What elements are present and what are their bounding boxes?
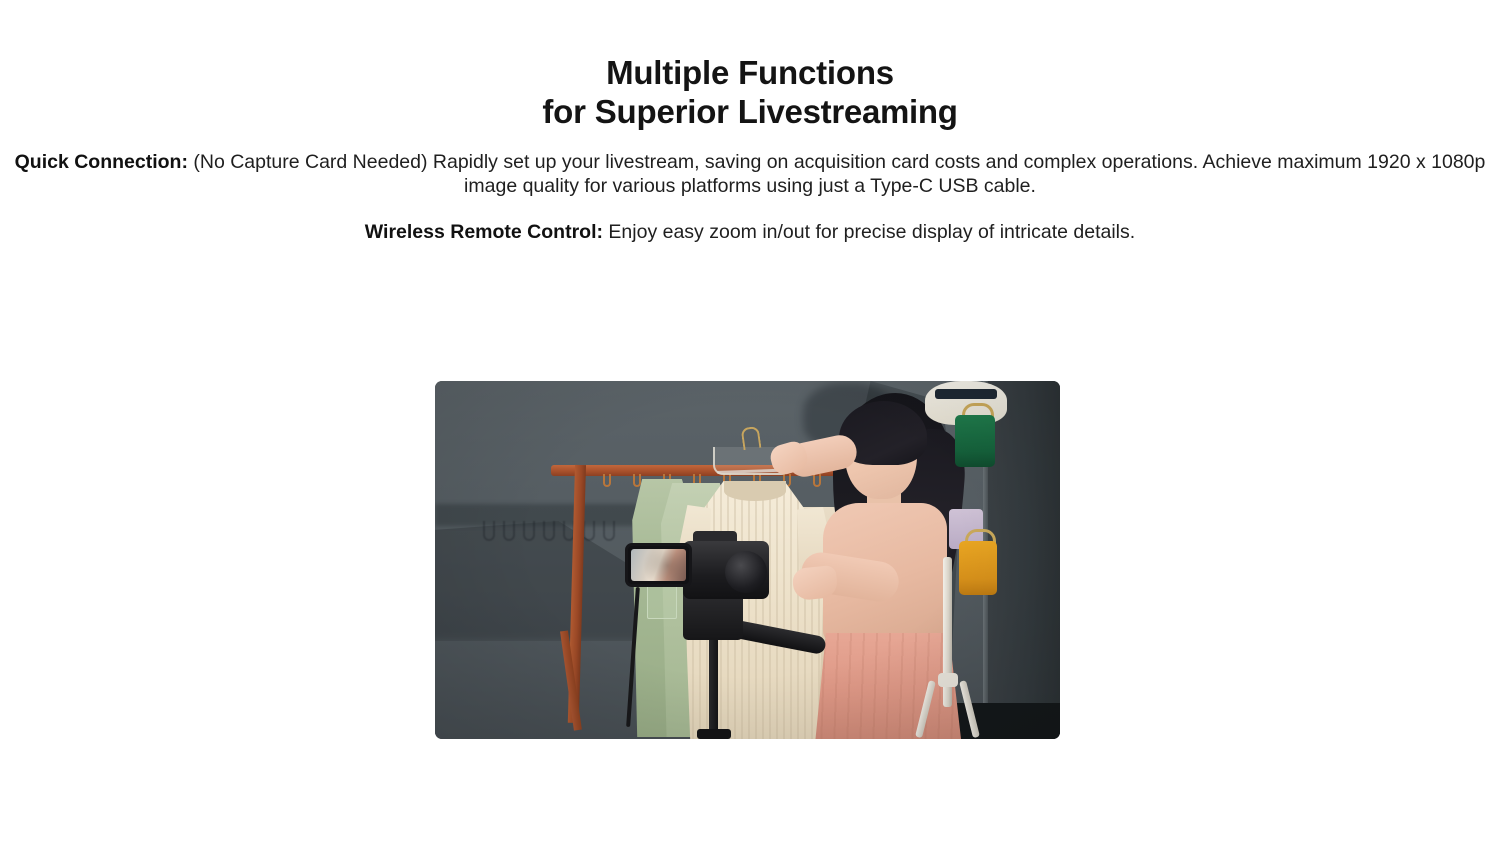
- feature-paragraph-quick-connection: Quick Connection: (No Capture Card Neede…: [0, 151, 1500, 198]
- rack-hook-icon: [633, 474, 641, 487]
- feature-paragraph-wireless-remote: Wireless Remote Control: Enjoy easy zoom…: [0, 221, 1500, 244]
- feature-label-quick-connection: Quick Connection:: [15, 151, 188, 173]
- yellow-handbag: [959, 541, 997, 595]
- page-title-line-2: for Superior Livestreaming: [0, 93, 1500, 132]
- light-stand-knob: [938, 673, 958, 687]
- hanger-hook-icon: [741, 426, 762, 450]
- feature-text-wireless-remote: Enjoy easy zoom in/out for precise displ…: [603, 221, 1135, 243]
- hanger-shadow-icon: [543, 521, 555, 541]
- dress-neckline: [724, 481, 786, 501]
- rack-hook-icon: [813, 474, 821, 487]
- page-title-emphasis: Livestreaming: [738, 93, 958, 130]
- page-root: Multiple Functions for Superior Livestre…: [0, 0, 1500, 844]
- feature-label-wireless-remote: Wireless Remote Control:: [365, 221, 603, 243]
- photo-scene: [435, 381, 1060, 739]
- camera-flip-screen: [625, 543, 692, 587]
- camera-lens: [725, 551, 767, 593]
- promo-content: Multiple Functions for Superior Livestre…: [0, 0, 1500, 244]
- tripod-leg: [709, 631, 718, 739]
- hanger-shadow-icon: [523, 521, 535, 541]
- feature-text-quick-connection: (No Capture Card Needed) Rapidly set up …: [188, 151, 1485, 196]
- hanger-shadow-icon: [483, 521, 495, 541]
- wall-right-panel: [988, 381, 1060, 739]
- hat-band: [935, 389, 997, 399]
- hanger-shadow-icon: [583, 521, 595, 541]
- page-title: Multiple Functions for Superior Livestre…: [0, 0, 1500, 131]
- product-lifestyle-photo: [435, 381, 1060, 739]
- feature-description-block: Quick Connection: (No Capture Card Neede…: [0, 131, 1500, 244]
- green-handbag: [955, 415, 995, 467]
- rack-hook-icon: [603, 474, 611, 487]
- hanger-shadow-icon: [503, 521, 515, 541]
- page-title-line-2-prefix: for Superior: [542, 93, 737, 130]
- tripod-foot: [697, 729, 731, 739]
- camera-live-preview: [631, 549, 686, 581]
- page-title-line-1: Multiple Functions: [0, 54, 1500, 93]
- hanger-shadow-icon: [603, 521, 615, 541]
